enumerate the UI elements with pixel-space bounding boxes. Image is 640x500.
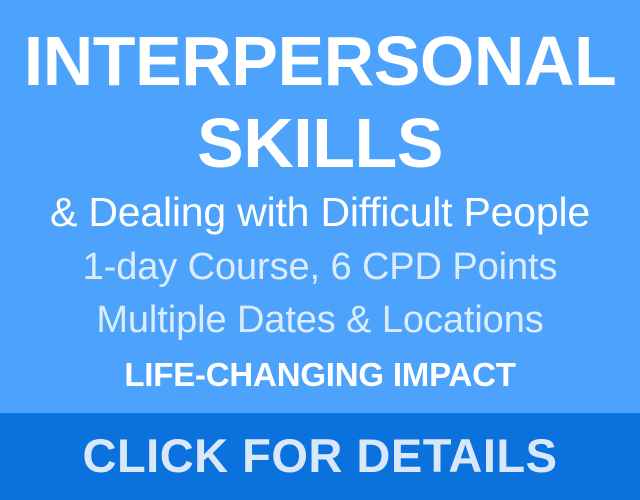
headline-line-1: INTERPERSONAL bbox=[0, 26, 640, 96]
impact-statement: LIFE-CHANGING IMPACT bbox=[0, 357, 640, 393]
banner-content: INTERPERSONAL SKILLS & Dealing with Diff… bbox=[0, 0, 640, 413]
cta-button[interactable]: CLICK FOR DETAILS bbox=[0, 413, 640, 500]
cta-label: CLICK FOR DETAILS bbox=[83, 432, 558, 481]
detail-course-duration: 1-day Course, 6 CPD Points bbox=[0, 246, 640, 288]
promo-banner[interactable]: INTERPERSONAL SKILLS & Dealing with Diff… bbox=[0, 0, 640, 500]
headline-line-2: SKILLS bbox=[0, 108, 640, 178]
banner-subhead: & Dealing with Difficult People bbox=[0, 190, 640, 234]
detail-dates-locations: Multiple Dates & Locations bbox=[0, 299, 640, 341]
